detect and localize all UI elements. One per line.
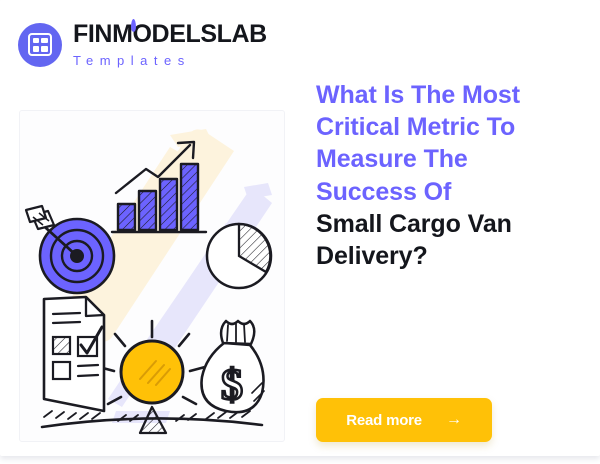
grid-cell [33, 38, 39, 44]
business-metrics-illustration: $ [20, 111, 284, 441]
headline-line: Success Of [316, 176, 584, 208]
grid-logo-icon [18, 23, 62, 67]
brand-logo[interactable]: FINMODELSLAB Templates [18, 22, 267, 67]
arrow-right-icon: → [446, 412, 462, 428]
headline-subject-line: Delivery? [316, 240, 584, 272]
target-bullseye-arrow-icon [26, 206, 114, 293]
money-bag-icon: $ [202, 321, 265, 412]
svg-text:$: $ [221, 360, 243, 409]
brand-tagline: Templates [73, 54, 267, 67]
headline-line: Measure The [316, 143, 584, 175]
illustration-panel: $ [19, 110, 285, 442]
brand-text: FINMODELSLAB Templates [73, 22, 267, 67]
headline-line: Critical Metric To [316, 111, 584, 143]
grid-cell [33, 46, 39, 52]
page-title: What Is The Most Critical Metric To Meas… [316, 79, 584, 273]
grid-glyph [28, 33, 52, 56]
pie-chart-icon [207, 224, 271, 288]
read-more-button[interactable]: Read more → [316, 398, 492, 442]
grid-cell [41, 38, 47, 44]
checklist-document-icon [44, 297, 104, 411]
brand-name-label: FINMODELSLAB [73, 20, 267, 48]
headline-subject-line: Small Cargo Van [316, 208, 584, 240]
grid-cell [41, 46, 47, 52]
promo-card: FINMODELSLAB Templates [0, 0, 600, 456]
headline-line: What Is The Most [316, 79, 584, 111]
shining-coin-icon [121, 341, 183, 403]
droplet-icon [131, 19, 136, 32]
read-more-label: Read more [346, 412, 422, 429]
brand-name: FINMODELSLAB [73, 22, 267, 47]
